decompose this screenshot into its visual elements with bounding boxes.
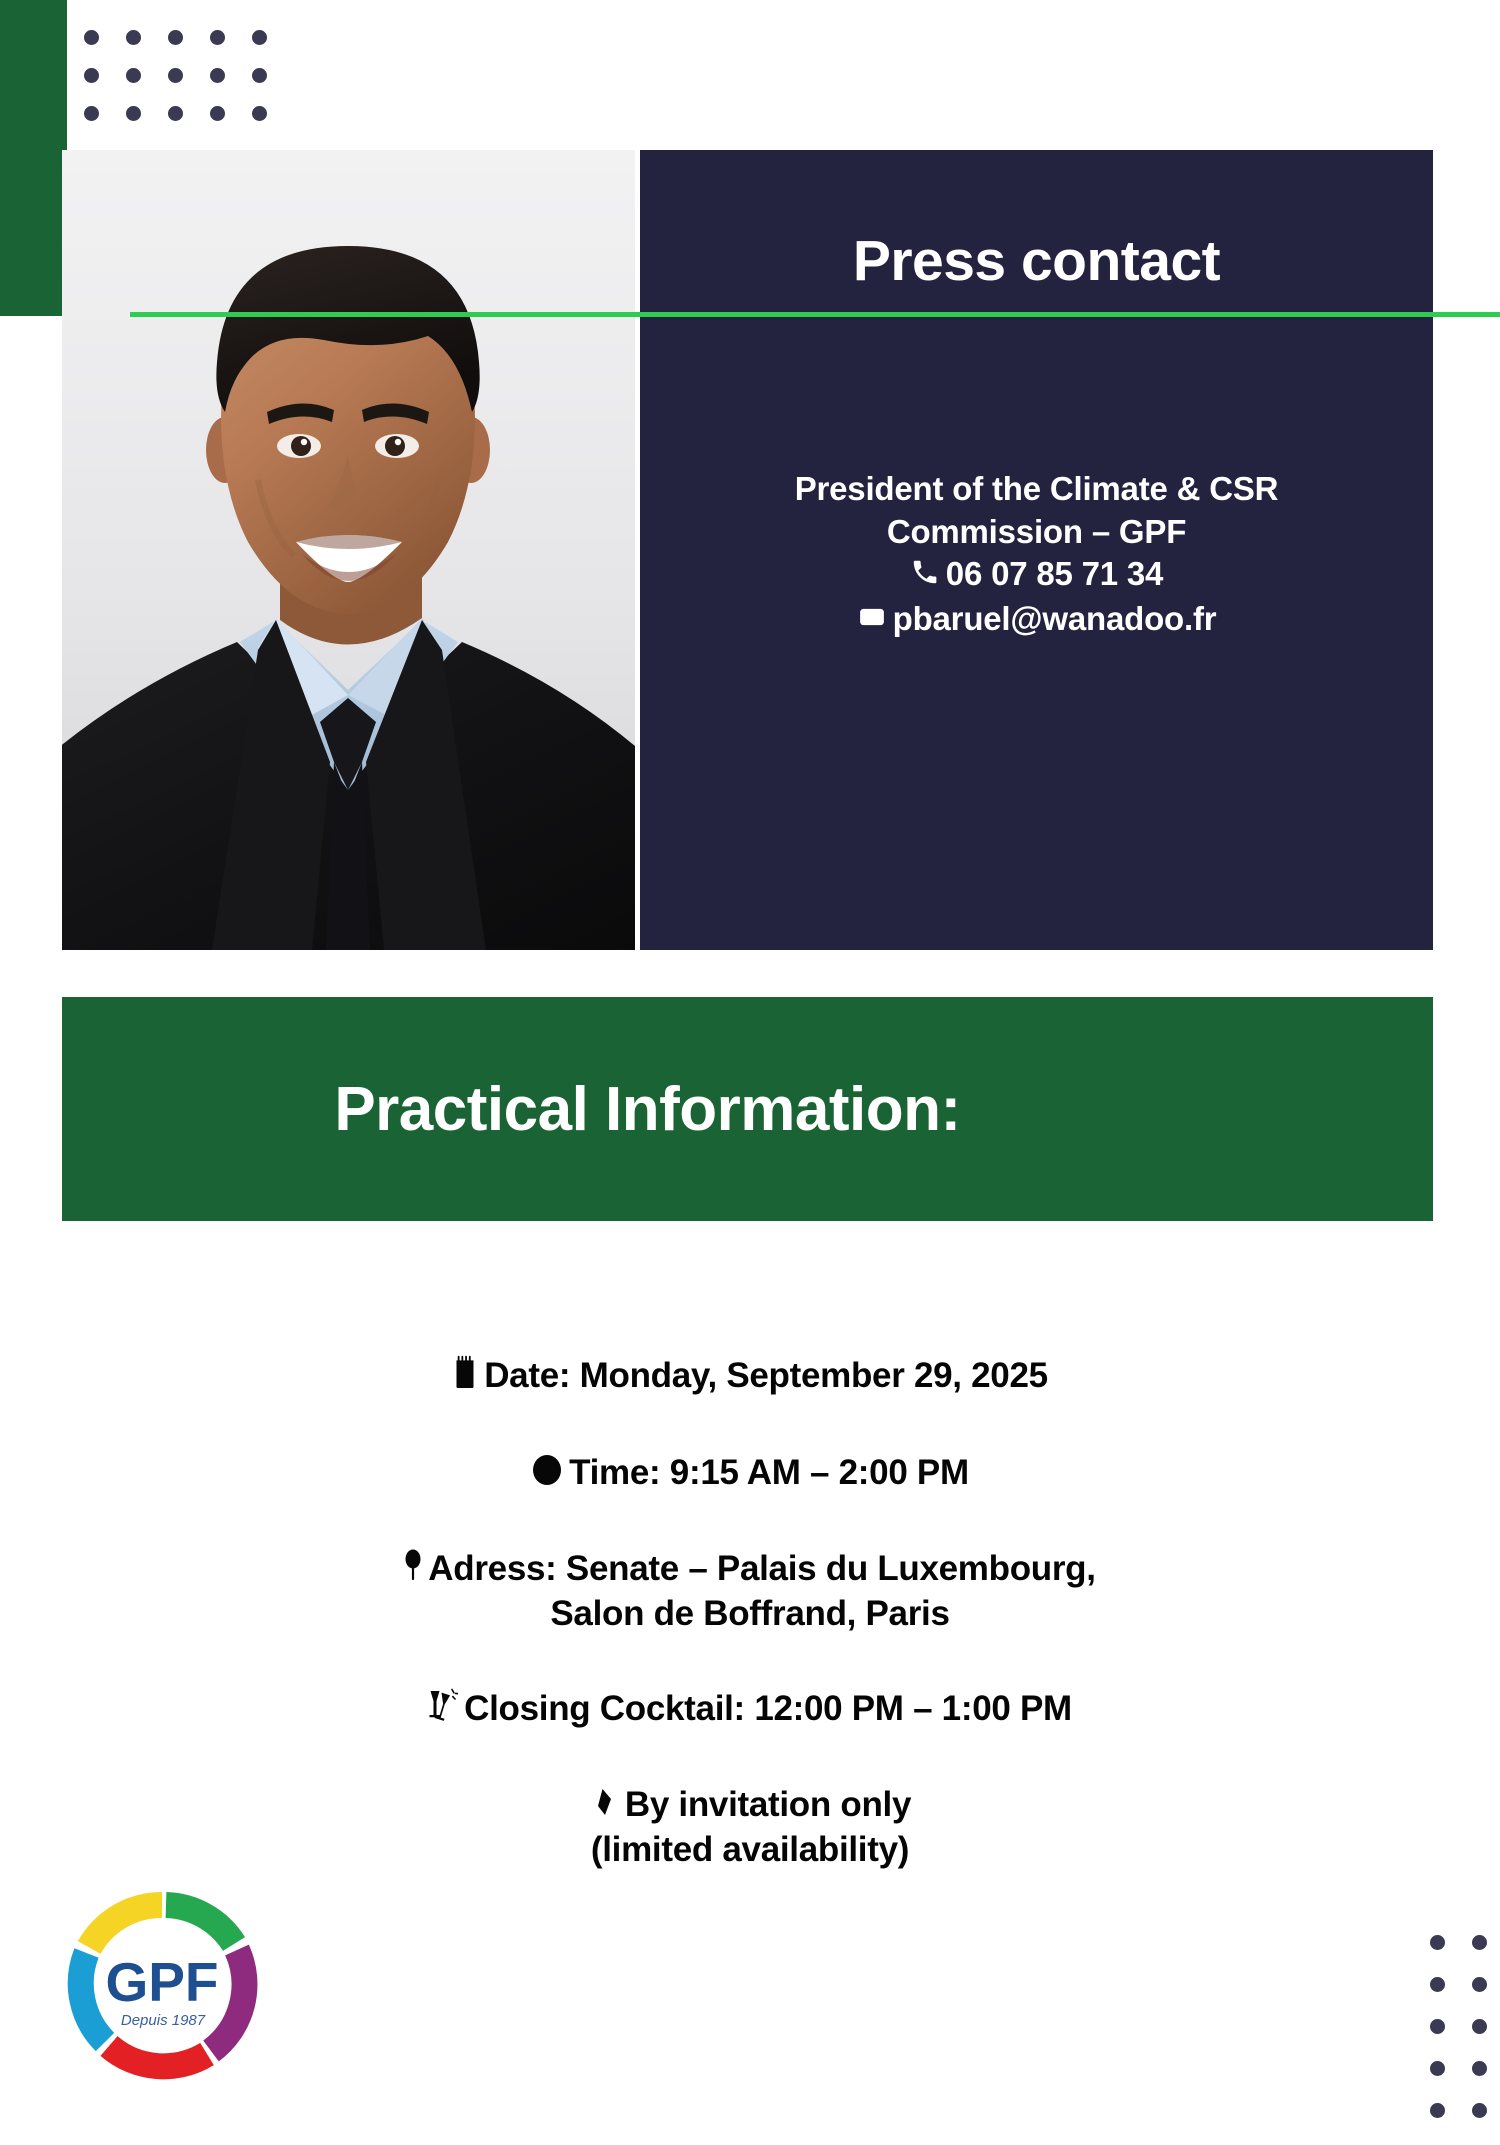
press-contact-divider-rule <box>130 312 1500 317</box>
decorative-dot <box>168 106 183 121</box>
green-corner-bar <box>0 0 67 316</box>
phone-icon <box>910 555 940 598</box>
logo-segment-red <box>109 2046 207 2066</box>
detail-invitation-text-line2: (limited availability) <box>0 1829 1500 1872</box>
decorative-dot <box>168 30 183 45</box>
decorative-dot <box>1472 2061 1487 2076</box>
decorative-dot <box>1430 2061 1445 2076</box>
logo-segment-yellow <box>89 1905 162 1948</box>
press-contact-title: Press contact <box>670 230 1403 293</box>
detail-row-date: Date: Monday, September 29, 2025 <box>0 1355 1500 1400</box>
press-contact-email-row[interactable]: pbaruel@wanadoo.fr <box>670 598 1403 643</box>
portrait-illustration <box>62 150 635 950</box>
decorative-dot <box>84 68 99 83</box>
decorative-dot <box>1472 1935 1487 1950</box>
detail-row-time: Time: 9:15 AM – 2:00 PM <box>0 1452 1500 1497</box>
detail-cocktail-text: Closing Cocktail: 12:00 PM – 1:00 PM <box>464 1689 1072 1728</box>
practical-information-banner: Practical Information: <box>62 997 1433 1221</box>
decorative-dot <box>1472 1977 1487 1992</box>
detail-time-text: Time: 9:15 AM – 2:00 PM <box>569 1453 969 1492</box>
gpf-logo: GPF Depuis 1987 <box>62 1888 262 2088</box>
detail-row-invitation: By invitation only (limited availability… <box>0 1784 1500 1871</box>
detail-row-address: Adress: Senate – Palais du Luxembourg, S… <box>0 1548 1500 1635</box>
detail-row-cocktail: Closing Cocktail: 12:00 PM – 1:00 PM <box>0 1688 1500 1733</box>
press-contact-email: pbaruel@wanadoo.fr <box>893 600 1217 637</box>
decorative-dot <box>1472 2103 1487 2118</box>
logo-wordmark: GPF <box>105 1951 218 2013</box>
notepad-icon <box>452 1355 478 1400</box>
detail-date-text: Date: Monday, September 29, 2025 <box>484 1356 1048 1395</box>
press-contact-phone: 06 07 85 71 34 <box>946 555 1163 592</box>
decorative-dot <box>210 30 225 45</box>
decorative-dot <box>1430 2103 1445 2118</box>
decorative-dot <box>168 68 183 83</box>
decorative-dot <box>210 106 225 121</box>
email-icon <box>857 600 887 643</box>
detail-address-text: Adress: Senate – Palais du Luxembourg, <box>428 1549 1095 1588</box>
decorative-dot <box>252 68 267 83</box>
gpf-logo-mark: GPF Depuis 1987 <box>62 1888 262 2088</box>
decorative-dot <box>84 106 99 121</box>
decorative-dot <box>252 30 267 45</box>
detail-address-text-line2: Salon de Boffrand, Paris <box>0 1593 1500 1636</box>
logo-segment-blue <box>81 1953 105 2042</box>
decorative-dot <box>1472 2019 1487 2034</box>
press-contact-role-line2: Commission – GPF <box>670 511 1403 554</box>
top-left-dot-grid <box>84 30 294 144</box>
detail-invitation-text: By invitation only <box>625 1785 911 1824</box>
logo-tagline: Depuis 1987 <box>121 2012 206 2029</box>
clinking-glasses-icon <box>428 1688 458 1733</box>
practical-information-title: Practical Information: <box>334 1074 960 1145</box>
press-contact-role-line1: President of the Climate & CSR <box>670 468 1403 511</box>
press-contact-portrait-photo <box>62 150 635 950</box>
decorative-dot <box>126 30 141 45</box>
press-contact-panel: Press contact President of the Climate &… <box>640 150 1433 950</box>
decorative-dot <box>1430 1935 1445 1950</box>
press-contact-details: President of the Climate & CSR Commissio… <box>670 468 1403 644</box>
decorative-dot <box>252 106 267 121</box>
ticket-icon <box>589 1786 619 1829</box>
press-contact-phone-row[interactable]: 06 07 85 71 34 <box>670 553 1403 598</box>
logo-segment-green <box>166 1905 234 1944</box>
decorative-dot <box>1430 1977 1445 1992</box>
practical-information-list: Date: Monday, September 29, 2025 Time: 9… <box>0 1355 1500 1872</box>
decorative-dot <box>210 68 225 83</box>
decorative-dot <box>126 106 141 121</box>
bottom-right-dot-grid <box>1430 1935 1500 2145</box>
map-pin-icon <box>404 1548 422 1593</box>
decorative-dot <box>1430 2019 1445 2034</box>
decorative-dot <box>84 30 99 45</box>
clock-icon <box>531 1452 563 1497</box>
decorative-dot <box>126 68 141 83</box>
